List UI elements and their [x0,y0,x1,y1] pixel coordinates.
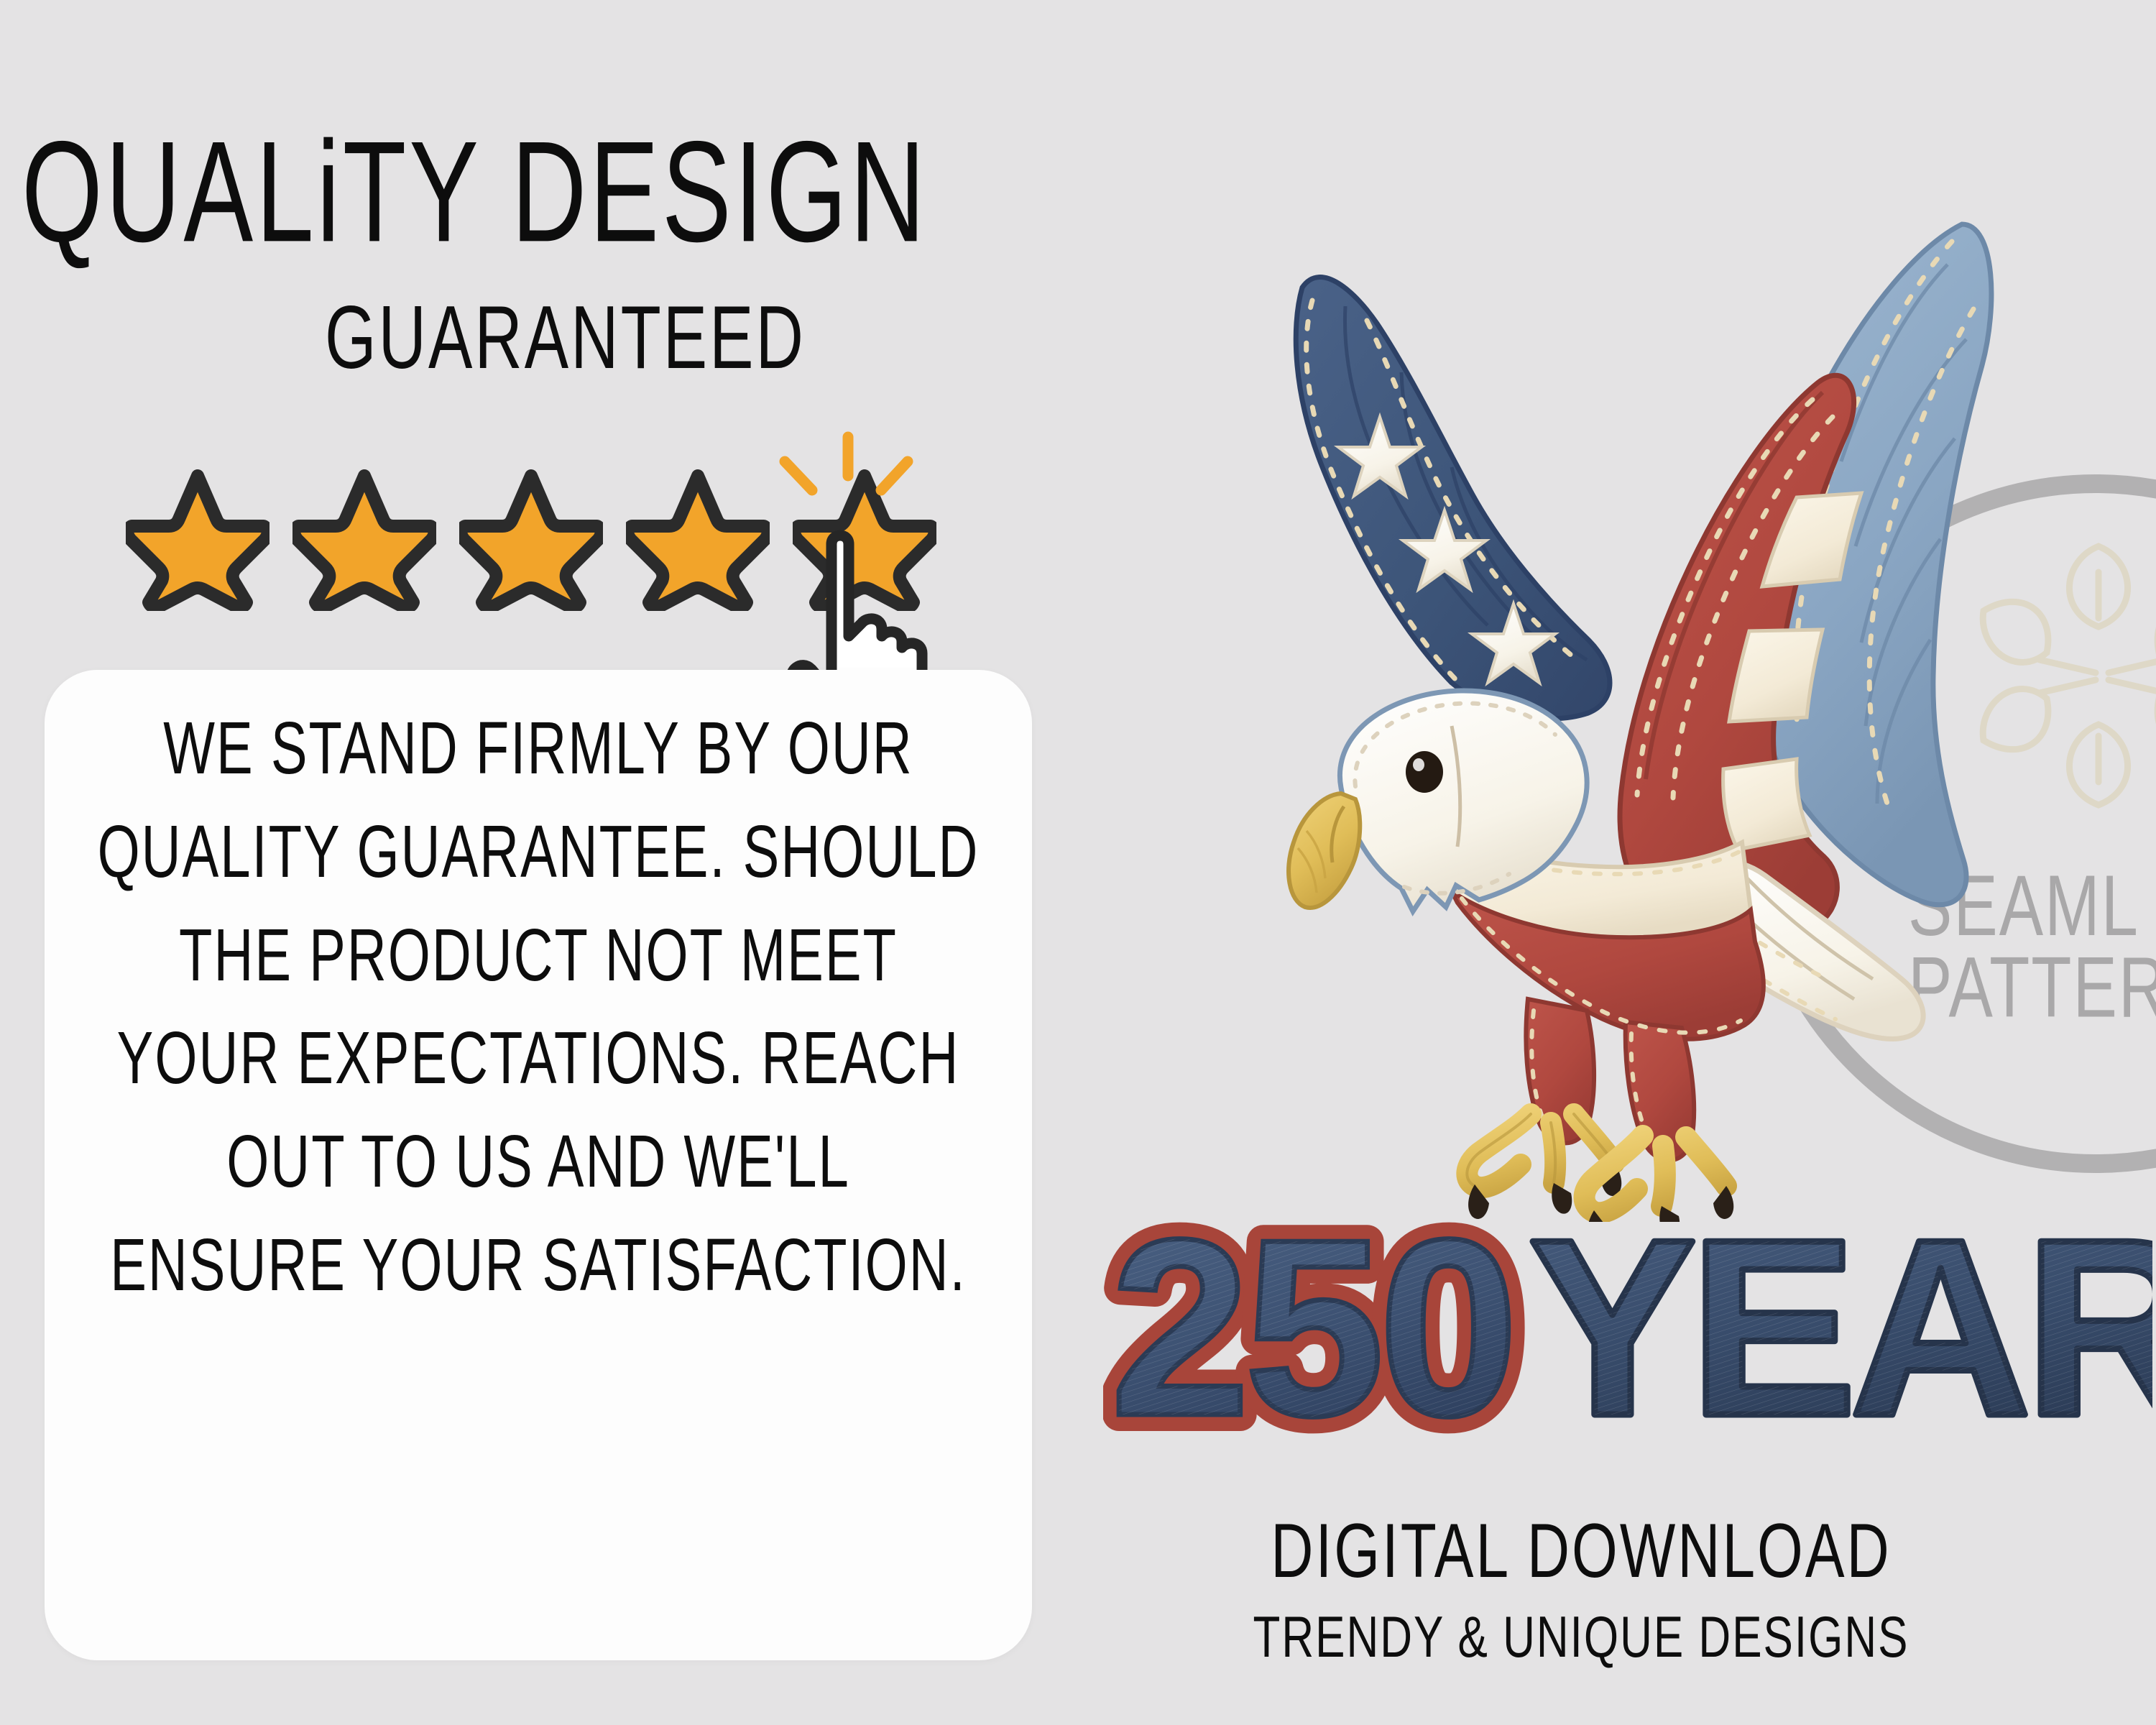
svg-text:YEARS: YEARS [1529,1187,2152,1468]
guarantee-card-body: WE STAND FIRMLY BY OUR QUALITY GUARANTEE… [45,710,1032,1330]
big-title-250-years: 250 250 250 YEARS YEARS [1103,1177,2152,1479]
footer-secondary: TRENDY & UNIQUE DESIGNS [1150,1604,2012,1670]
star-icon-3[interactable] [459,467,603,611]
svg-text:250: 250 [1110,1187,1513,1468]
eagle-applique-illustration [1114,180,2156,1222]
footer-primary: DIGITAL DOWNLOAD [1150,1508,2012,1596]
poster-canvas: QUALiTY DESIGN GUARANTEED [0,0,2156,1725]
page-subtitle: GUARANTEED [325,293,806,382]
guarantee-line-1: WE STAND FIRMLY BY OUR [45,710,1032,788]
guarantee-line-5: OUT TO US AND WE'LL [45,1123,1032,1201]
page-title: QUALiTY DESIGN [22,121,1078,264]
star-icon-1[interactable] [126,467,269,611]
eagle-navy-wing [1296,277,1610,719]
star-icon-2[interactable] [292,467,436,611]
guarantee-line-2: QUALITY GUARANTEE. SHOULD [45,814,1032,891]
guarantee-line-4: YOUR EXPECTATIONS. REACH [45,1020,1032,1098]
guarantee-line-6: ENSURE YOUR SATISFACTION. [45,1227,1032,1305]
guarantee-card: WE STAND FIRMLY BY OUR QUALITY GUARANTEE… [45,670,1032,1660]
guarantee-line-3: THE PRODUCT NOT MEET [45,917,1032,995]
